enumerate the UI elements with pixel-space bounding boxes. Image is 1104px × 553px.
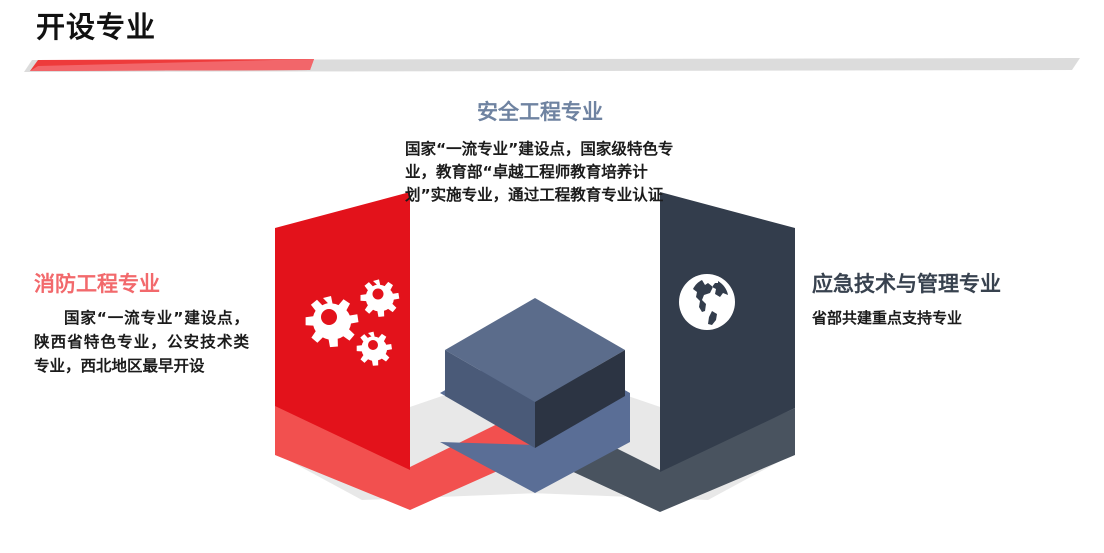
safety-engineering-heading: 安全工程专业	[405, 100, 675, 124]
globe-icon	[679, 274, 735, 330]
fire-engineering-body: 国家“一流专业”建设点，陕西省特色专业，公安技术类专业，西北地区最早开设	[34, 306, 249, 378]
page-title: 开设专业	[36, 13, 156, 42]
program-block-fire-engineering: 消防工程专业 国家“一流专业”建设点，陕西省特色专业，公安技术类专业，西北地区最…	[34, 272, 249, 378]
program-block-emergency-management: 应急技术与管理专业 省部共建重点支持专业	[812, 272, 1092, 330]
gear-hub-large	[321, 309, 337, 325]
fire-engineering-heading: 消防工程专业	[34, 272, 249, 296]
emergency-management-body: 省部共建重点支持专业	[812, 307, 1092, 330]
isometric-illustration	[250, 180, 820, 540]
program-block-safety-engineering: 安全工程专业 国家“一流专业”建设点，国家级特色专业，教育部“卓越工程师教育培养…	[405, 100, 675, 207]
emergency-management-heading: 应急技术与管理专业	[812, 272, 1092, 296]
title-divider-rule	[24, 58, 1080, 72]
gear-hub-small-bottom	[368, 340, 378, 350]
gear-hub-small-top	[373, 289, 384, 300]
safety-engineering-body: 国家“一流专业”建设点，国家级特色专业，教育部“卓越工程师教育培养计划”实施专业…	[405, 138, 675, 207]
